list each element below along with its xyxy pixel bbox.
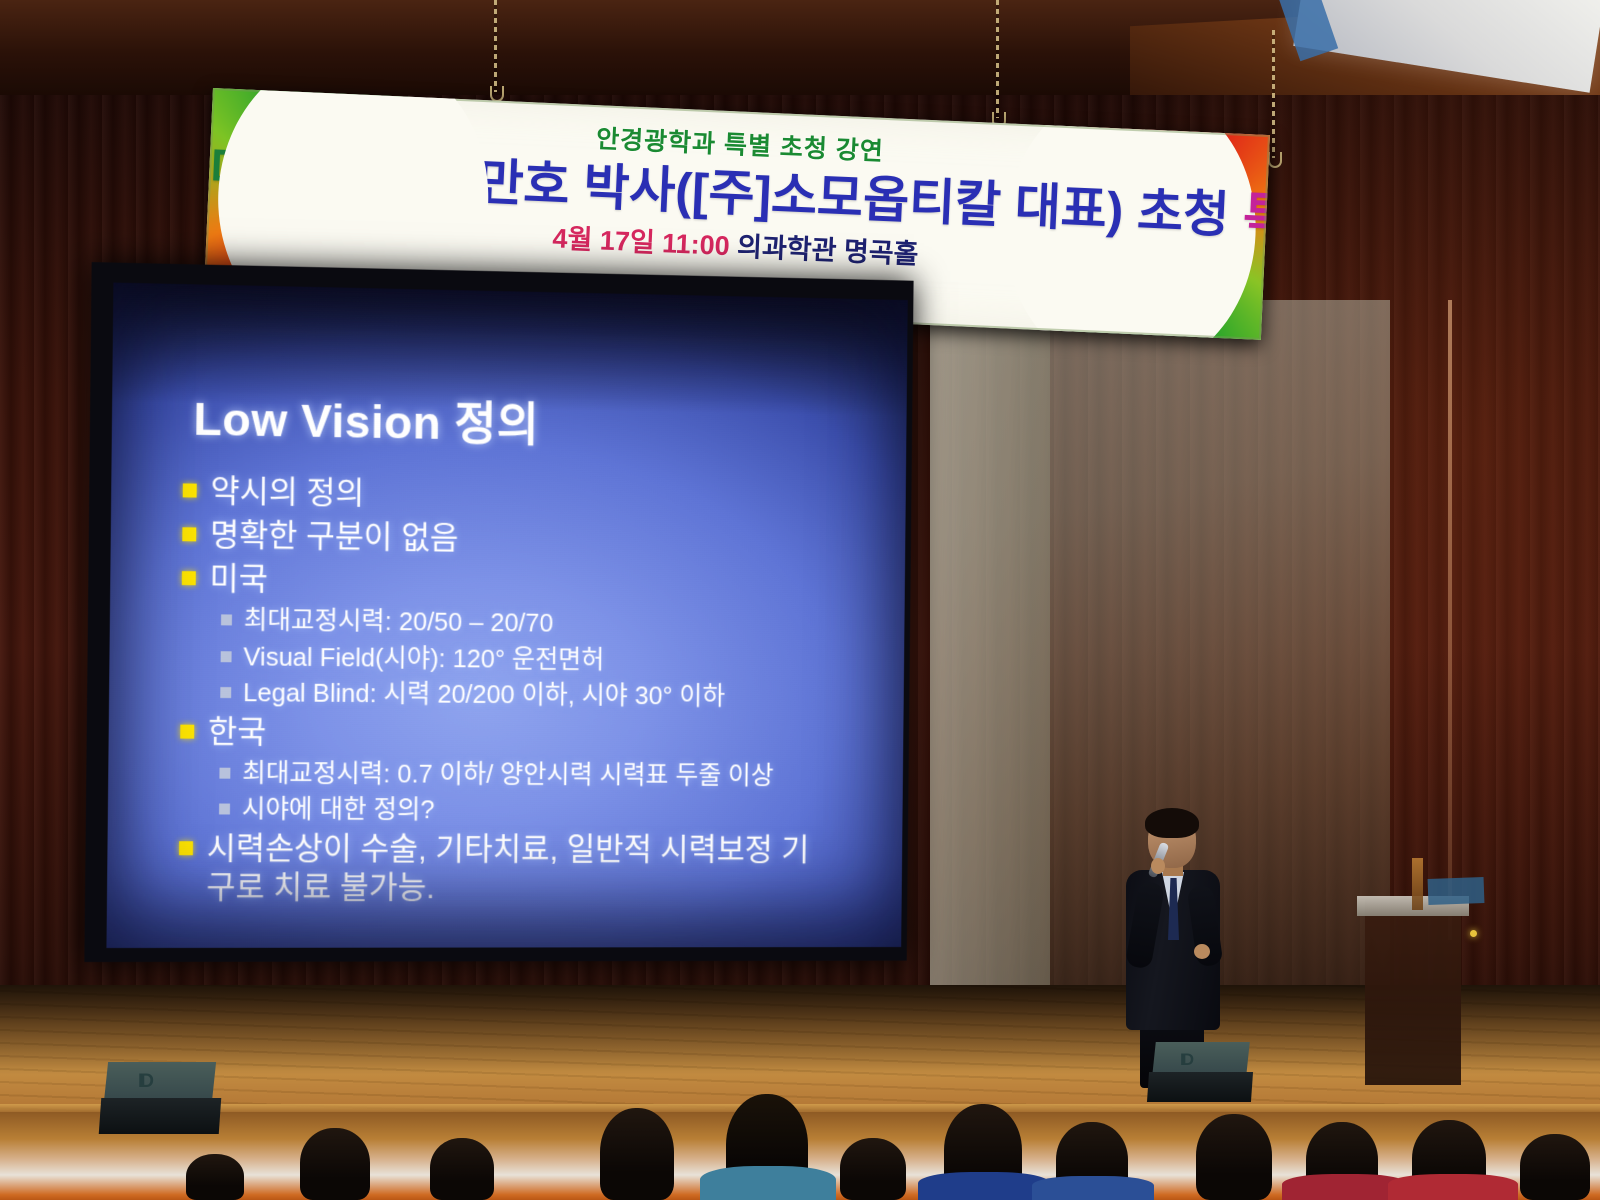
monitor-body: [1147, 1072, 1253, 1102]
banner-chain-mid: [996, 0, 999, 118]
square-bullet-icon: [180, 724, 194, 738]
audience-shoulders: [700, 1166, 836, 1200]
banner-chain-left: [494, 0, 497, 92]
monitor-brand-label: ID: [138, 1072, 180, 1092]
presenter-other-hand: [1194, 944, 1210, 959]
bullet-text: 시력손상이 수술, 기타치료, 일반적 시력보정 기구로 치료 불가능.: [206, 829, 827, 907]
presenter-hair: [1145, 808, 1199, 838]
banner-title-green: 미국 O.D.: [208, 142, 419, 207]
sub-bullet-item: 시야에 대한 정의?: [219, 793, 880, 827]
audience-shoulders: [1032, 1176, 1154, 1200]
bullet-text: 약시의 정의: [210, 472, 364, 513]
audience-head: [840, 1138, 906, 1200]
audience-head: [600, 1108, 674, 1200]
bullet-item: 한국: [180, 712, 881, 755]
audience-head: [1520, 1134, 1590, 1200]
banner-chain-right: [1272, 30, 1275, 158]
slide-title: Low Vision 정의: [193, 380, 539, 454]
sub-bullet-item: Visual Field(시야): 120° 운전면허: [221, 640, 882, 678]
sub-bullet-text: Legal Blind: 시력 20/200 이하, 시야 30° 이하: [243, 676, 725, 712]
bullet-item: 시력손상이 수술, 기타치료, 일반적 시력보정 기구로 치료 불가능.: [178, 829, 879, 907]
square-bullet-icon: [182, 527, 196, 541]
indicator-light: [1470, 930, 1477, 937]
sub-bullet-item: 최대교정시력: 20/50 – 20/70: [221, 604, 882, 643]
sub-bullet-text: Visual Field(시야): 120° 운전면허: [243, 640, 604, 675]
projection-screen: Low Vision 정의 약시의 정의 명확한 구분이 없음 미국 최대교정시…: [106, 283, 907, 948]
small-square-bullet-icon: [221, 651, 232, 662]
sub-bullet-item: 최대교정시력: 0.7 이하/ 양안시력 시력표 두줄 이상: [219, 756, 880, 791]
bullet-text: 한국: [208, 712, 267, 751]
monitor-body: [99, 1098, 222, 1134]
audience-head: [300, 1128, 370, 1200]
bullet-text: 미국: [209, 560, 268, 600]
bullet-item: 약시의 정의: [183, 471, 884, 520]
square-bullet-icon: [183, 483, 197, 497]
podium-post: [1412, 858, 1423, 910]
sub-bullet-text: 최대교정시력: 20/50 – 20/70: [244, 604, 554, 639]
monitor-brand-label: ID: [1180, 1050, 1222, 1070]
small-square-bullet-icon: [219, 767, 230, 778]
stage-floor-shadow: [0, 985, 1600, 1075]
stage-monitor-left: ID: [100, 1062, 220, 1134]
bullet-item: 명확한 구분이 없음: [182, 515, 883, 563]
square-bullet-icon: [182, 571, 196, 585]
bullet-text: 명확한 구분이 없음: [210, 516, 459, 558]
small-square-bullet-icon: [220, 687, 231, 698]
sub-bullet-text: 최대교정시력: 0.7 이하/ 양안시력 시력표 두줄 이상: [242, 756, 774, 791]
sub-bullet-item: Legal Blind: 시력 20/200 이하, 시야 30° 이하: [220, 676, 881, 713]
audience-shoulders: [1388, 1174, 1518, 1200]
slide-bullet-list: 약시의 정의 명확한 구분이 없음 미국 최대교정시력: 20/50 – 20/…: [178, 471, 883, 911]
banner-hook-right: [1268, 152, 1282, 168]
auditorium-photo: 안경광학과 특별 초청 강연 미국 O.D. 장만호 박사([주]소모옵티칼 대…: [0, 0, 1600, 1200]
podium-blue-panel: [1428, 877, 1485, 905]
audience-head: [1196, 1114, 1272, 1200]
small-square-bullet-icon: [219, 804, 230, 815]
small-square-bullet-icon: [221, 614, 232, 625]
square-bullet-icon: [179, 841, 193, 855]
sub-bullet-text: 시야에 대한 정의?: [242, 793, 435, 826]
audience-shoulders: [918, 1172, 1050, 1200]
presenter-hand-holding-mic: [1151, 858, 1165, 874]
wall-seam: [1448, 300, 1452, 940]
podium: [1365, 900, 1461, 1085]
audience-head: [186, 1154, 244, 1200]
audience-head: [430, 1138, 494, 1200]
bullet-item: 미국: [182, 559, 883, 606]
stage-monitor-right: ID: [1148, 1042, 1252, 1104]
projection-screen-frame: Low Vision 정의 약시의 정의 명확한 구분이 없음 미국 최대교정시…: [84, 262, 913, 962]
side-wall-strip: [930, 300, 1050, 1000]
